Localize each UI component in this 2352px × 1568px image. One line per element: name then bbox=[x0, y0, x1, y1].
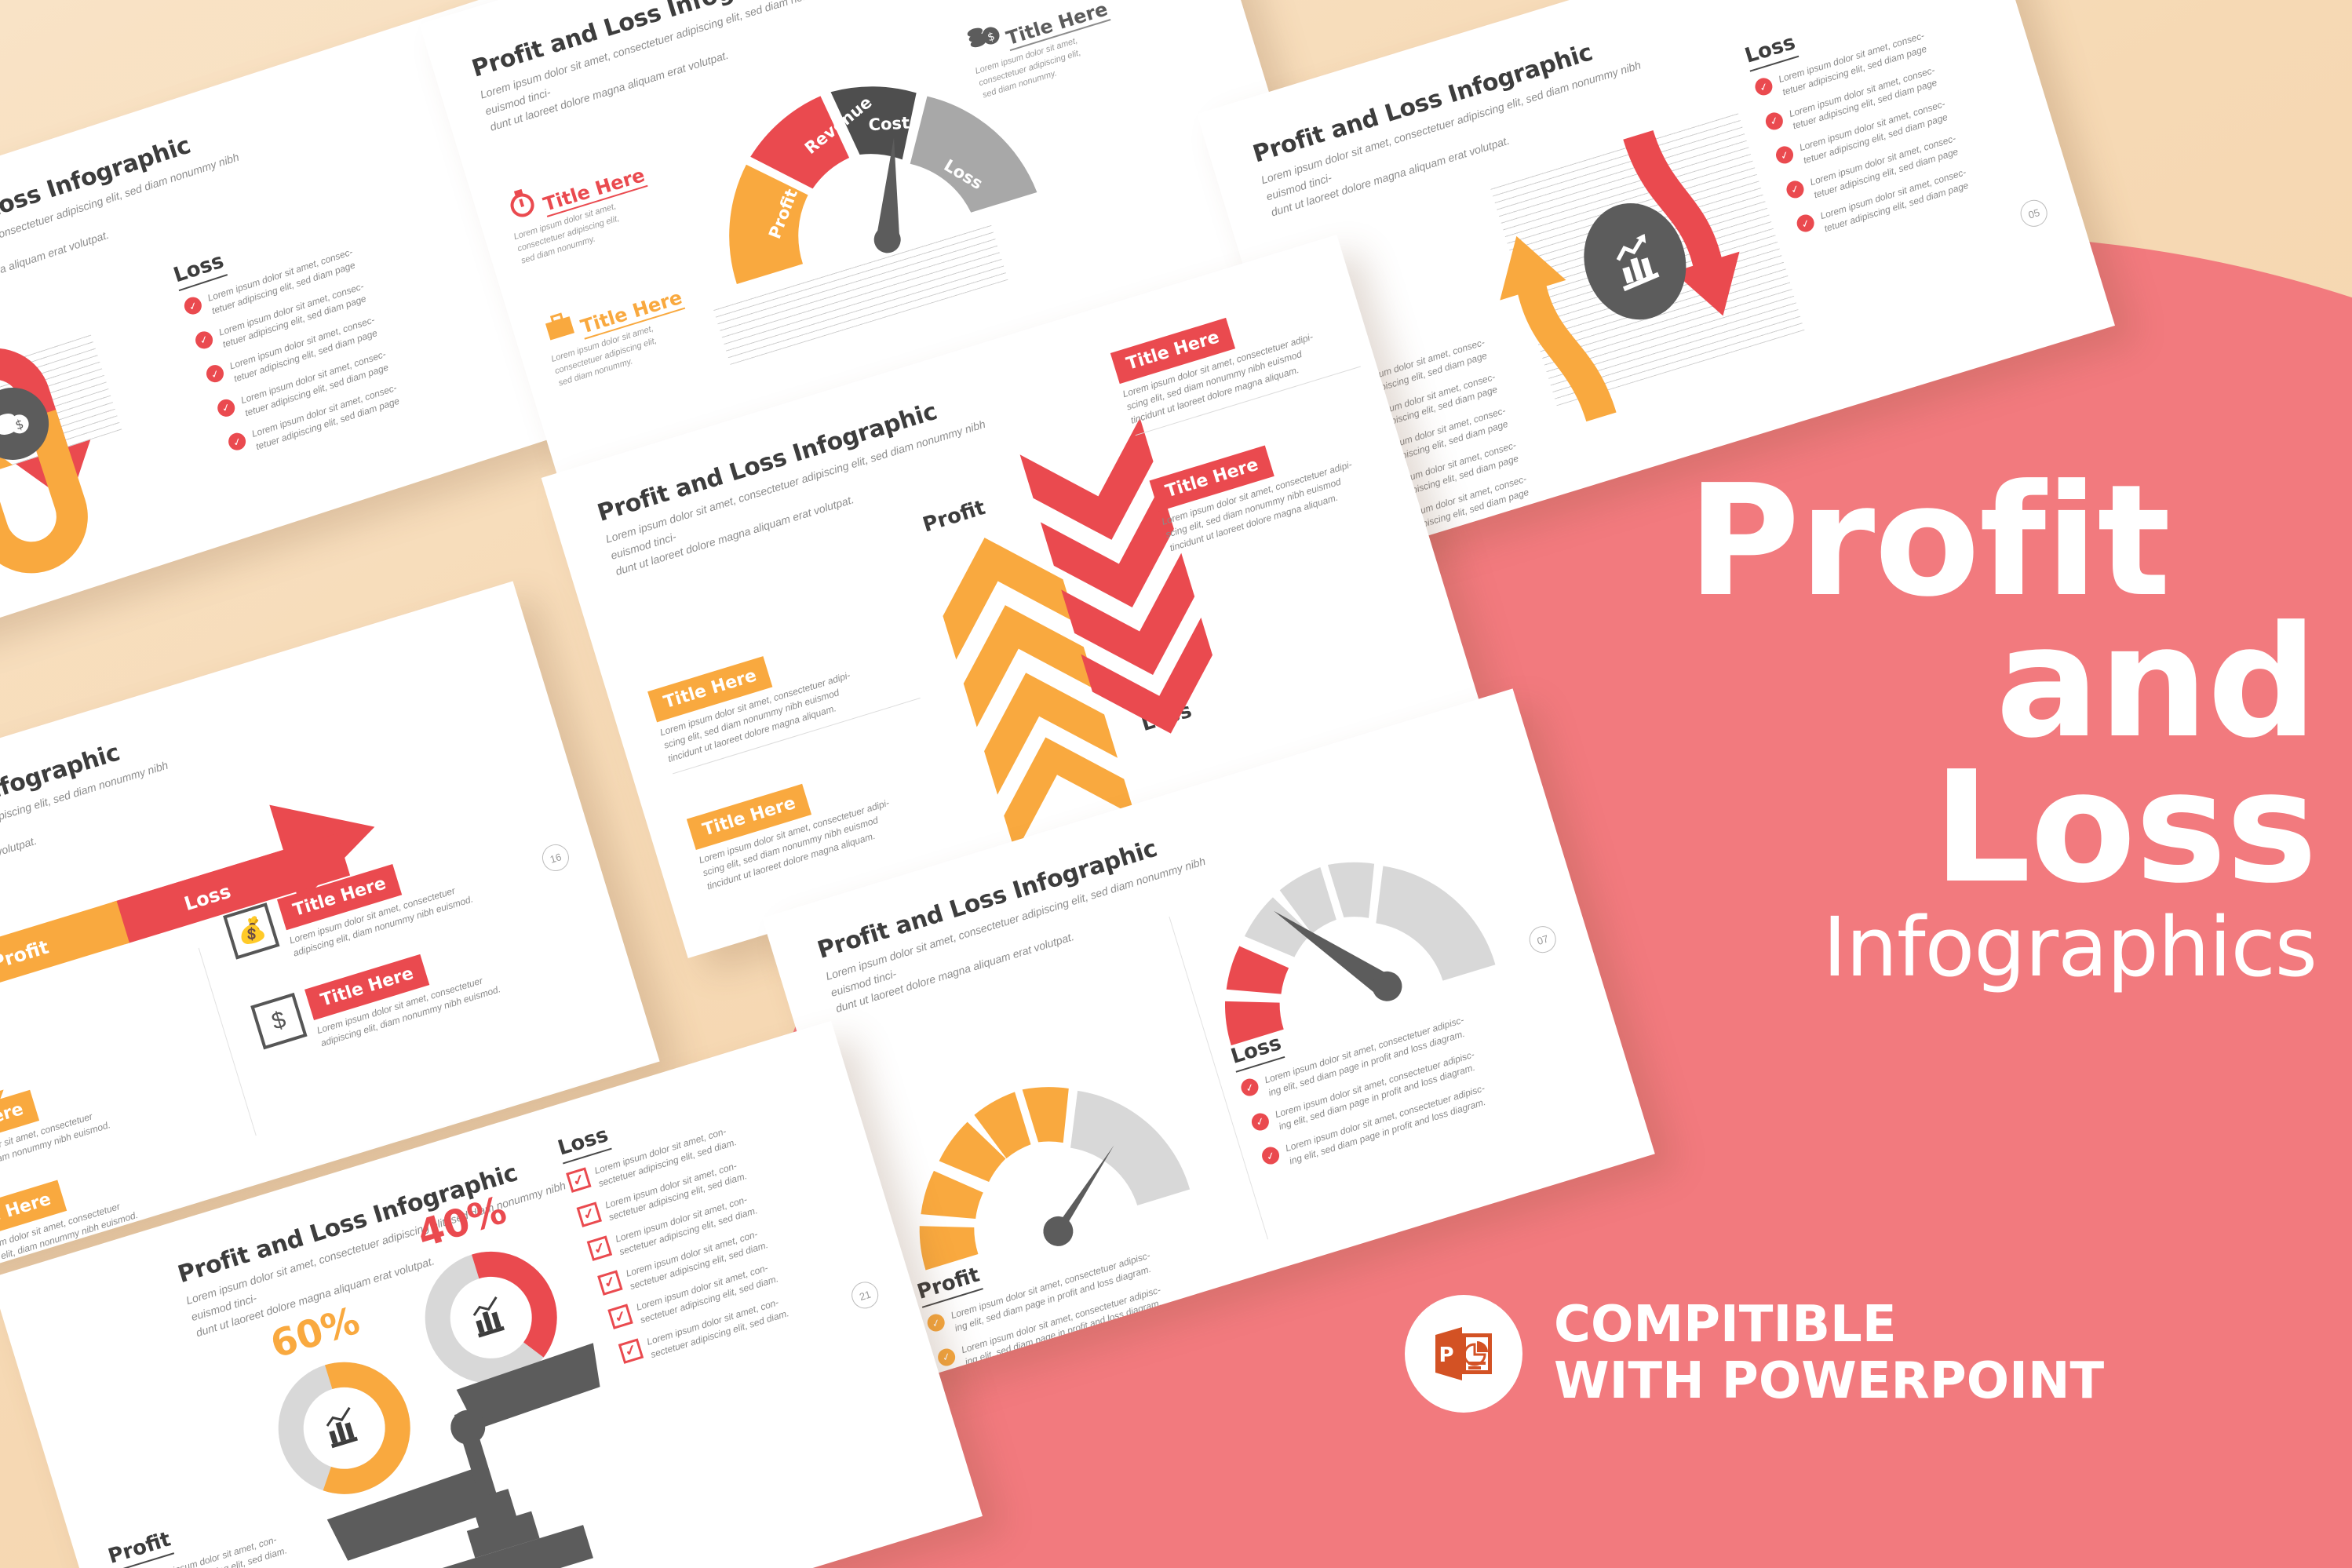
svg-text:P: P bbox=[1439, 1344, 1453, 1367]
column-heading-profit: Profit bbox=[105, 1527, 174, 1568]
hero-subtitle: Infographics bbox=[1687, 906, 2331, 988]
check-dot-icon: ✓ bbox=[193, 329, 215, 351]
check-dot-icon: ✓ bbox=[935, 1346, 957, 1367]
check-dot-icon: ✓ bbox=[182, 295, 204, 317]
checkbox-icon[interactable]: ✓ bbox=[587, 1236, 612, 1261]
page-number: 16 bbox=[539, 841, 572, 874]
check-dot-icon: ✓ bbox=[925, 1312, 946, 1333]
check-dot-icon: ✓ bbox=[226, 431, 248, 453]
page-number: 05 bbox=[2017, 197, 2050, 230]
check-dot-icon: ✓ bbox=[1260, 1145, 1281, 1166]
hero-title-block: Profit and Loss Infographics bbox=[1687, 471, 2331, 988]
briefcase-icon bbox=[538, 306, 580, 345]
badge-line-1: COMPITIBLE bbox=[1554, 1297, 2104, 1354]
check-dot-icon: ✓ bbox=[204, 363, 226, 385]
poster-canvas: Profit and Loss Infographic Lorem ipsum … bbox=[0, 0, 2352, 1568]
powerpoint-icon: P bbox=[1405, 1295, 1522, 1413]
badge-line-2: WITH POWERPOINT bbox=[1554, 1354, 2104, 1410]
stopwatch-icon bbox=[500, 182, 542, 222]
powerpoint-compatible-badge: P COMPITIBLE WITH POWERPOINT bbox=[1405, 1295, 2104, 1413]
checkbox-icon[interactable]: ✓ bbox=[607, 1304, 633, 1329]
hero-title-line-2: and bbox=[1687, 612, 2331, 753]
hero-title-line-1: Profit bbox=[1687, 471, 2331, 612]
powerpoint-badge-text: COMPITIBLE WITH POWERPOINT bbox=[1554, 1297, 2104, 1409]
check-dot-icon: ✓ bbox=[1239, 1077, 1260, 1098]
column-heading-loss: Loss bbox=[555, 1123, 612, 1165]
checkbox-icon[interactable]: ✓ bbox=[597, 1270, 622, 1295]
check-dot-icon: ✓ bbox=[1249, 1110, 1271, 1132]
page-number: 07 bbox=[1526, 923, 1559, 956]
hero-title-line-3: Loss bbox=[1687, 754, 2331, 902]
svg-text:Cost: Cost bbox=[868, 114, 910, 135]
check-dot-icon: ✓ bbox=[215, 397, 237, 419]
column-heading-loss: Loss bbox=[170, 250, 228, 291]
column-heading-loss: Loss bbox=[1742, 31, 1800, 72]
